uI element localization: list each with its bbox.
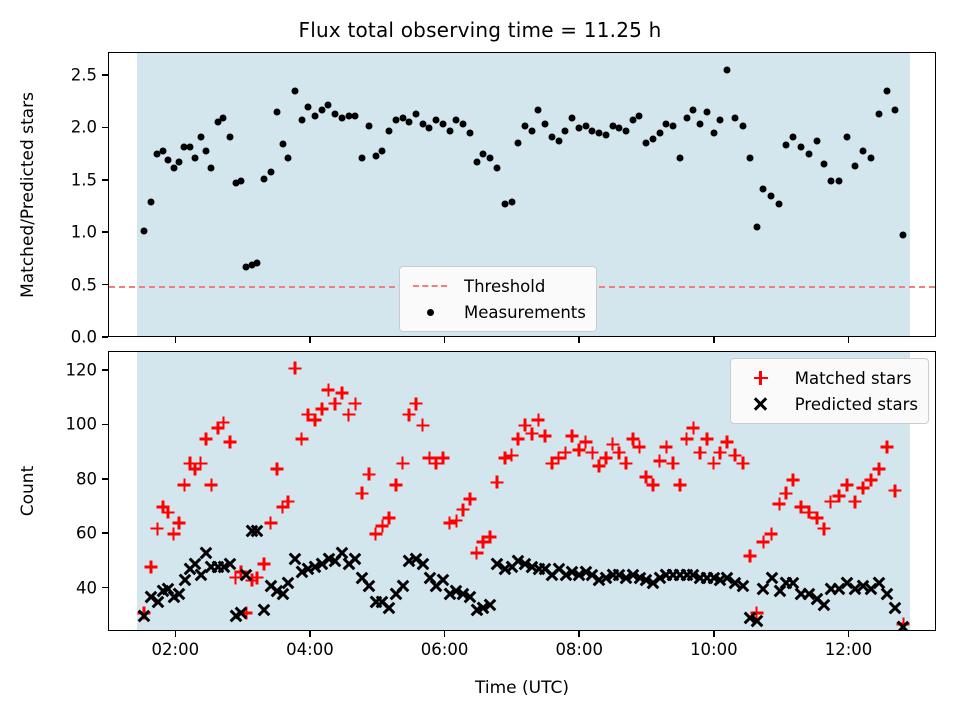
data-point-matched-stars bbox=[335, 386, 348, 399]
data-point-measurements bbox=[279, 141, 286, 148]
data-point-measurements bbox=[298, 117, 305, 124]
plus-marker-icon bbox=[739, 368, 783, 388]
data-point-matched-stars bbox=[532, 413, 545, 426]
data-point-measurements bbox=[535, 106, 542, 113]
data-point-matched-stars bbox=[687, 422, 700, 435]
dashed-line-icon bbox=[408, 276, 452, 296]
data-point-measurements bbox=[562, 127, 569, 134]
data-point-measurements bbox=[165, 156, 172, 163]
data-point-measurements bbox=[859, 148, 866, 155]
data-point-measurements bbox=[798, 144, 805, 151]
data-point-measurements bbox=[629, 117, 636, 124]
data-point-measurements bbox=[697, 121, 704, 128]
data-point-matched-stars bbox=[271, 462, 284, 475]
data-point-predicted-stars bbox=[234, 606, 247, 619]
data-point-matched-stars bbox=[484, 530, 497, 543]
data-point-measurements bbox=[746, 154, 753, 161]
data-point-measurements bbox=[723, 66, 730, 73]
data-point-predicted-stars bbox=[817, 598, 830, 611]
x-tick-mark bbox=[848, 337, 850, 343]
top-panel-axes: Threshold Measurements bbox=[108, 52, 936, 337]
data-point-measurements bbox=[460, 121, 467, 128]
y-tick-mark bbox=[102, 179, 108, 181]
data-point-matched-stars bbox=[765, 528, 778, 541]
legend-label-predicted-stars: Predicted stars bbox=[783, 395, 918, 414]
data-point-measurements bbox=[426, 125, 433, 132]
data-point-measurements bbox=[776, 200, 783, 207]
bottom-panel-axes: Matched stars Predicted stars bbox=[108, 351, 936, 631]
x-tick-label: 04:00 bbox=[286, 640, 334, 659]
data-point-predicted-stars bbox=[224, 558, 237, 571]
legend-item-matched-stars[interactable]: Matched stars bbox=[739, 365, 918, 391]
data-point-matched-stars bbox=[356, 487, 369, 500]
x-tick-label: 06:00 bbox=[421, 640, 469, 659]
data-point-measurements bbox=[493, 165, 500, 172]
data-point-measurements bbox=[892, 106, 899, 113]
data-point-measurements bbox=[542, 121, 549, 128]
data-point-matched-stars bbox=[848, 495, 861, 508]
data-point-measurements bbox=[868, 154, 875, 161]
data-point-matched-stars bbox=[889, 484, 902, 497]
data-point-predicted-stars bbox=[737, 579, 750, 592]
data-point-measurements bbox=[602, 131, 609, 138]
data-point-measurements bbox=[683, 114, 690, 121]
data-point-predicted-stars bbox=[257, 604, 270, 617]
data-point-measurements bbox=[254, 259, 261, 266]
y-tick-mark bbox=[102, 74, 108, 76]
x-tick-label: 10:00 bbox=[690, 640, 738, 659]
data-point-measurements bbox=[569, 114, 576, 121]
data-point-matched-stars bbox=[653, 454, 666, 467]
data-point-measurements bbox=[406, 119, 413, 126]
x-tick-label: 02:00 bbox=[152, 640, 200, 659]
data-point-measurements bbox=[466, 129, 473, 136]
data-point-matched-stars bbox=[559, 446, 572, 459]
data-point-measurements bbox=[372, 152, 379, 159]
legend-label-matched-stars: Matched stars bbox=[783, 369, 912, 388]
data-point-matched-stars bbox=[566, 430, 579, 443]
x-tick-mark bbox=[848, 631, 850, 637]
y-tick-mark bbox=[102, 231, 108, 233]
data-point-measurements bbox=[814, 138, 821, 145]
x-tick-label: 12:00 bbox=[825, 640, 873, 659]
data-point-measurements bbox=[656, 129, 663, 136]
legend-item-measurements[interactable]: Measurements bbox=[408, 299, 586, 325]
data-point-matched-stars bbox=[178, 479, 191, 492]
data-point-measurements bbox=[186, 144, 193, 151]
data-point-predicted-stars bbox=[484, 598, 497, 611]
data-point-matched-stars bbox=[217, 416, 230, 429]
y-tick-mark bbox=[102, 284, 108, 286]
data-point-predicted-stars bbox=[750, 615, 763, 628]
data-point-predicted-stars bbox=[288, 552, 301, 565]
y-tick-label: 1.5 bbox=[71, 170, 97, 189]
x-tick-mark bbox=[309, 631, 311, 637]
data-point-measurements bbox=[202, 148, 209, 155]
y-tick-mark bbox=[102, 369, 108, 371]
data-point-measurements bbox=[365, 123, 372, 130]
legend-label-measurements: Measurements bbox=[452, 303, 586, 322]
data-point-predicted-stars bbox=[173, 587, 186, 600]
legend-label-threshold: Threshold bbox=[452, 277, 545, 296]
data-point-measurements bbox=[305, 104, 312, 111]
data-point-measurements bbox=[311, 112, 318, 119]
legend-item-predicted-stars[interactable]: Predicted stars bbox=[739, 391, 918, 417]
dot-marker-icon bbox=[408, 302, 452, 322]
data-point-matched-stars bbox=[512, 432, 525, 445]
data-point-measurements bbox=[528, 127, 535, 134]
data-point-measurements bbox=[379, 148, 386, 155]
data-point-predicted-stars bbox=[396, 579, 409, 592]
data-point-matched-stars bbox=[362, 468, 375, 481]
data-point-measurements bbox=[622, 127, 629, 134]
bottom-panel-y-axis-label: Count bbox=[18, 466, 38, 517]
data-point-measurements bbox=[412, 110, 419, 117]
data-point-measurements bbox=[820, 161, 827, 168]
data-point-predicted-stars bbox=[349, 552, 362, 565]
data-point-matched-stars bbox=[539, 430, 552, 443]
data-point-matched-stars bbox=[660, 441, 673, 454]
data-point-matched-stars bbox=[224, 435, 237, 448]
data-point-measurements bbox=[851, 163, 858, 170]
y-tick-label: 1.0 bbox=[71, 223, 97, 242]
y-tick-label: 80 bbox=[76, 469, 97, 488]
data-point-matched-stars bbox=[315, 403, 328, 416]
data-point-measurements bbox=[359, 154, 366, 161]
data-point-measurements bbox=[884, 87, 891, 94]
data-point-predicted-stars bbox=[463, 590, 476, 603]
data-point-matched-stars bbox=[817, 522, 830, 535]
data-point-measurements bbox=[732, 114, 739, 121]
data-point-matched-stars bbox=[409, 397, 422, 410]
data-point-measurements bbox=[636, 112, 643, 119]
data-point-matched-stars bbox=[619, 457, 632, 470]
data-point-measurements bbox=[835, 177, 842, 184]
data-point-measurements bbox=[291, 87, 298, 94]
data-point-matched-stars bbox=[416, 419, 429, 432]
data-point-matched-stars bbox=[349, 397, 362, 410]
data-point-predicted-stars bbox=[383, 601, 396, 614]
data-point-matched-stars bbox=[873, 462, 886, 475]
data-point-predicted-stars bbox=[416, 558, 429, 571]
y-tick-label: 0.0 bbox=[71, 328, 97, 347]
data-point-measurements bbox=[806, 150, 813, 157]
data-point-measurements bbox=[227, 133, 234, 140]
data-point-predicted-stars bbox=[436, 574, 449, 587]
data-point-matched-stars bbox=[205, 479, 218, 492]
data-point-measurements bbox=[768, 192, 775, 199]
data-point-measurements bbox=[783, 142, 790, 149]
y-tick-label: 2.0 bbox=[71, 118, 97, 137]
data-point-predicted-stars bbox=[897, 620, 910, 631]
x-tick-mark bbox=[713, 631, 715, 637]
cross-marker-icon bbox=[739, 394, 783, 414]
data-point-measurements bbox=[827, 177, 834, 184]
data-point-matched-stars bbox=[194, 457, 207, 470]
data-point-measurements bbox=[285, 154, 292, 161]
data-point-measurements bbox=[176, 158, 183, 165]
data-point-predicted-stars bbox=[889, 601, 902, 614]
y-tick-mark bbox=[102, 424, 108, 426]
x-tick-mark bbox=[309, 337, 311, 343]
y-tick-mark bbox=[102, 336, 108, 338]
data-point-predicted-stars bbox=[138, 609, 151, 622]
data-point-matched-stars bbox=[694, 446, 707, 459]
data-point-measurements bbox=[197, 133, 204, 140]
data-point-matched-stars bbox=[840, 479, 853, 492]
data-point-measurements bbox=[789, 133, 796, 140]
y-tick-label: 60 bbox=[76, 524, 97, 543]
top-panel-y-axis-label: Matched/Predicted stars bbox=[18, 92, 38, 298]
data-point-predicted-stars bbox=[199, 547, 212, 560]
y-tick-mark bbox=[102, 478, 108, 480]
data-point-measurements bbox=[843, 133, 850, 140]
x-axis-label: Time (UTC) bbox=[475, 678, 569, 698]
data-point-predicted-stars bbox=[881, 587, 894, 600]
data-point-matched-stars bbox=[288, 362, 301, 375]
data-point-measurements bbox=[237, 177, 244, 184]
data-point-predicted-stars bbox=[765, 571, 778, 584]
data-point-matched-stars bbox=[396, 457, 409, 470]
data-point-measurements bbox=[717, 117, 724, 124]
data-point-measurements bbox=[649, 135, 656, 142]
data-point-measurements bbox=[760, 186, 767, 193]
y-tick-mark bbox=[102, 587, 108, 589]
data-point-matched-stars bbox=[780, 487, 793, 500]
data-point-matched-stars bbox=[151, 522, 164, 535]
data-point-measurements bbox=[446, 127, 453, 134]
data-point-matched-stars bbox=[436, 452, 449, 465]
data-point-matched-stars bbox=[463, 492, 476, 505]
data-point-matched-stars bbox=[505, 449, 518, 462]
y-tick-label: 40 bbox=[76, 578, 97, 597]
data-point-matched-stars bbox=[282, 495, 295, 508]
data-point-matched-stars bbox=[490, 476, 503, 489]
data-point-measurements bbox=[274, 108, 281, 115]
data-point-measurements bbox=[170, 165, 177, 172]
data-point-measurements bbox=[555, 138, 562, 145]
data-point-matched-stars bbox=[786, 473, 799, 486]
data-point-matched-stars bbox=[646, 479, 659, 492]
figure-canvas: Flux total observing time = 11.25 h Thre… bbox=[0, 0, 960, 720]
y-tick-mark bbox=[102, 532, 108, 534]
data-point-matched-stars bbox=[881, 441, 894, 454]
data-point-matched-stars bbox=[257, 558, 270, 571]
data-point-measurements bbox=[192, 154, 199, 161]
data-point-measurements bbox=[159, 148, 166, 155]
data-point-predicted-stars bbox=[251, 525, 264, 538]
data-point-measurements bbox=[508, 198, 515, 205]
data-point-matched-stars bbox=[673, 479, 686, 492]
data-point-matched-stars bbox=[586, 446, 599, 459]
data-point-matched-stars bbox=[737, 457, 750, 470]
data-point-measurements bbox=[352, 112, 359, 119]
data-point-matched-stars bbox=[667, 457, 680, 470]
data-point-measurements bbox=[325, 102, 332, 109]
data-point-predicted-stars bbox=[362, 579, 375, 592]
data-point-matched-stars bbox=[383, 511, 396, 524]
data-point-matched-stars bbox=[599, 452, 612, 465]
data-point-matched-stars bbox=[743, 549, 756, 562]
data-point-measurements bbox=[487, 154, 494, 161]
x-tick-mark bbox=[578, 337, 580, 343]
x-tick-mark bbox=[444, 631, 446, 637]
data-point-measurements bbox=[473, 158, 480, 165]
data-point-measurements bbox=[141, 228, 148, 235]
data-point-measurements bbox=[690, 106, 697, 113]
data-point-matched-stars bbox=[322, 384, 335, 397]
data-point-matched-stars bbox=[720, 435, 733, 448]
data-point-matched-stars bbox=[700, 432, 713, 445]
y-tick-mark bbox=[102, 127, 108, 129]
data-point-measurements bbox=[318, 106, 325, 113]
y-tick-label: 100 bbox=[66, 415, 98, 434]
legend-item-threshold[interactable]: Threshold bbox=[408, 273, 586, 299]
data-point-predicted-stars bbox=[282, 577, 295, 590]
data-point-measurements bbox=[900, 232, 907, 239]
data-point-measurements bbox=[260, 175, 267, 182]
data-point-measurements bbox=[386, 127, 393, 134]
y-tick-label: 2.5 bbox=[71, 66, 97, 85]
x-tick-mark bbox=[444, 337, 446, 343]
x-tick-mark bbox=[175, 337, 177, 343]
data-point-matched-stars bbox=[295, 432, 308, 445]
data-point-measurements bbox=[876, 110, 883, 117]
y-tick-label: 120 bbox=[66, 361, 98, 380]
x-tick-mark bbox=[578, 631, 580, 637]
data-point-matched-stars bbox=[525, 427, 538, 440]
data-point-measurements bbox=[220, 114, 227, 121]
bottom-panel-legend[interactable]: Matched stars Predicted stars bbox=[730, 358, 929, 424]
top-panel-legend[interactable]: Threshold Measurements bbox=[399, 266, 597, 332]
data-point-measurements bbox=[710, 129, 717, 136]
data-point-matched-stars bbox=[389, 479, 402, 492]
data-point-measurements bbox=[515, 140, 522, 147]
data-point-matched-stars bbox=[264, 517, 277, 530]
data-point-measurements bbox=[703, 108, 710, 115]
x-tick-mark bbox=[175, 631, 177, 637]
data-point-matched-stars bbox=[199, 432, 212, 445]
data-point-matched-stars bbox=[633, 441, 646, 454]
data-point-matched-stars bbox=[144, 560, 157, 573]
data-point-measurements bbox=[147, 198, 154, 205]
data-point-measurements bbox=[643, 140, 650, 147]
y-tick-label: 0.5 bbox=[71, 275, 97, 294]
x-tick-mark bbox=[713, 337, 715, 343]
data-point-measurements bbox=[208, 165, 215, 172]
data-point-measurements bbox=[670, 123, 677, 130]
data-point-matched-stars bbox=[173, 517, 186, 530]
data-point-predicted-stars bbox=[240, 568, 253, 581]
x-tick-label: 08:00 bbox=[555, 640, 603, 659]
data-point-measurements bbox=[439, 121, 446, 128]
data-point-measurements bbox=[740, 123, 747, 130]
data-point-measurements bbox=[676, 154, 683, 161]
data-point-measurements bbox=[267, 169, 274, 176]
data-point-measurements bbox=[753, 223, 760, 230]
page-title: Flux total observing time = 11.25 h bbox=[0, 18, 960, 42]
